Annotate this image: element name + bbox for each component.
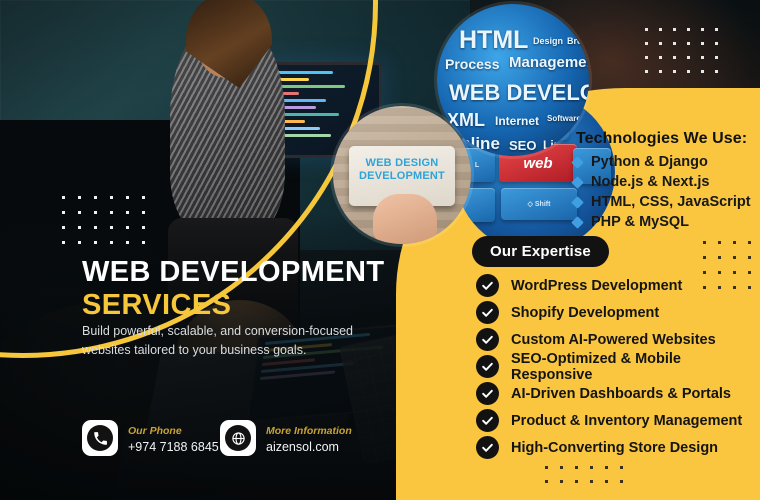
- technology-item: Python & Django: [573, 152, 751, 172]
- expertise-item: SEO-Optimized & Mobile Responsive: [476, 353, 760, 380]
- check-circle-icon: [476, 382, 499, 405]
- hero-description: Build powerful, scalable, and conversion…: [82, 322, 364, 360]
- expertise-list: WordPress Development Shopify Developmen…: [476, 272, 760, 461]
- dot-grid-top-right: [645, 28, 718, 73]
- page-subtitle: SERVICES: [82, 291, 231, 320]
- check-circle-icon: [476, 301, 499, 324]
- expertise-item: WordPress Development: [476, 272, 760, 299]
- web-design-tablet-circle-photo: WEB DESIGN DEVELOPMENT: [333, 106, 471, 244]
- check-circle-icon: [476, 328, 499, 351]
- expertise-label: WordPress Development: [511, 278, 682, 294]
- tablet-caption-line1: WEB DESIGN: [349, 146, 455, 170]
- expertise-label: Custom AI-Powered Websites: [511, 332, 716, 348]
- technology-item: Node.js & Next.js: [573, 172, 751, 192]
- expertise-label: Product & Inventory Management: [511, 413, 742, 429]
- marketing-banner: P L web ◇ Shift HTML Design Brows Proces…: [0, 0, 760, 500]
- technology-label: Python & Django: [591, 154, 708, 170]
- contact-website-text: More Information aizensol.com: [266, 421, 352, 455]
- contact-phone-value: +974 7188 6845: [128, 439, 219, 455]
- contact-phone[interactable]: Our Phone +974 7188 6845: [82, 420, 219, 456]
- technology-item: PHP & MySQL: [573, 212, 751, 232]
- check-circle-icon: [476, 355, 499, 378]
- technologies-list: Python & Django Node.js & Next.js HTML, …: [573, 152, 751, 232]
- globe-icon-box: [220, 420, 256, 456]
- expertise-item: Custom AI-Powered Websites: [476, 326, 760, 353]
- contact-website-label: More Information: [266, 425, 352, 437]
- expertise-item: High-Converting Store Design: [476, 434, 760, 461]
- technology-label: Node.js & Next.js: [591, 174, 709, 190]
- contact-website-value: aizensol.com: [266, 439, 352, 455]
- expertise-label: High-Converting Store Design: [511, 440, 718, 456]
- expertise-label: SEO-Optimized & Mobile Responsive: [511, 351, 760, 383]
- dot-grid-panel-bottom: [545, 466, 623, 483]
- technology-label: HTML, CSS, JavaScript: [591, 194, 751, 210]
- contact-phone-label: Our Phone: [128, 425, 182, 437]
- technologies-title: Technologies We Use:: [576, 130, 747, 148]
- phone-icon: [87, 425, 113, 451]
- check-circle-icon: [476, 409, 499, 432]
- phone-icon-box: [82, 420, 118, 456]
- tablet-caption-line2: DEVELOPMENT: [349, 170, 455, 183]
- dot-grid-left: [62, 196, 145, 244]
- expertise-item: Product & Inventory Management: [476, 407, 760, 434]
- hand-holding-tablet: [373, 194, 437, 244]
- expertise-label: AI-Driven Dashboards & Portals: [511, 386, 731, 402]
- contact-website[interactable]: More Information aizensol.com: [220, 420, 352, 456]
- technology-label: PHP & MySQL: [591, 214, 689, 230]
- expertise-label: Shopify Development: [511, 305, 659, 321]
- contact-phone-text: Our Phone +974 7188 6845: [128, 421, 219, 455]
- expertise-item: AI-Driven Dashboards & Portals: [476, 380, 760, 407]
- our-expertise-pill: Our Expertise: [472, 236, 609, 267]
- diamond-bullet-icon: [571, 156, 584, 169]
- expertise-item: Shopify Development: [476, 299, 760, 326]
- technology-item: HTML, CSS, JavaScript: [573, 192, 751, 212]
- page-title: WEB DEVELOPMENT: [82, 258, 384, 287]
- diamond-bullet-icon: [571, 196, 584, 209]
- diamond-bullet-icon: [571, 216, 584, 229]
- check-circle-icon: [476, 274, 499, 297]
- globe-icon: [225, 425, 251, 451]
- diamond-bullet-icon: [571, 176, 584, 189]
- check-circle-icon: [476, 436, 499, 459]
